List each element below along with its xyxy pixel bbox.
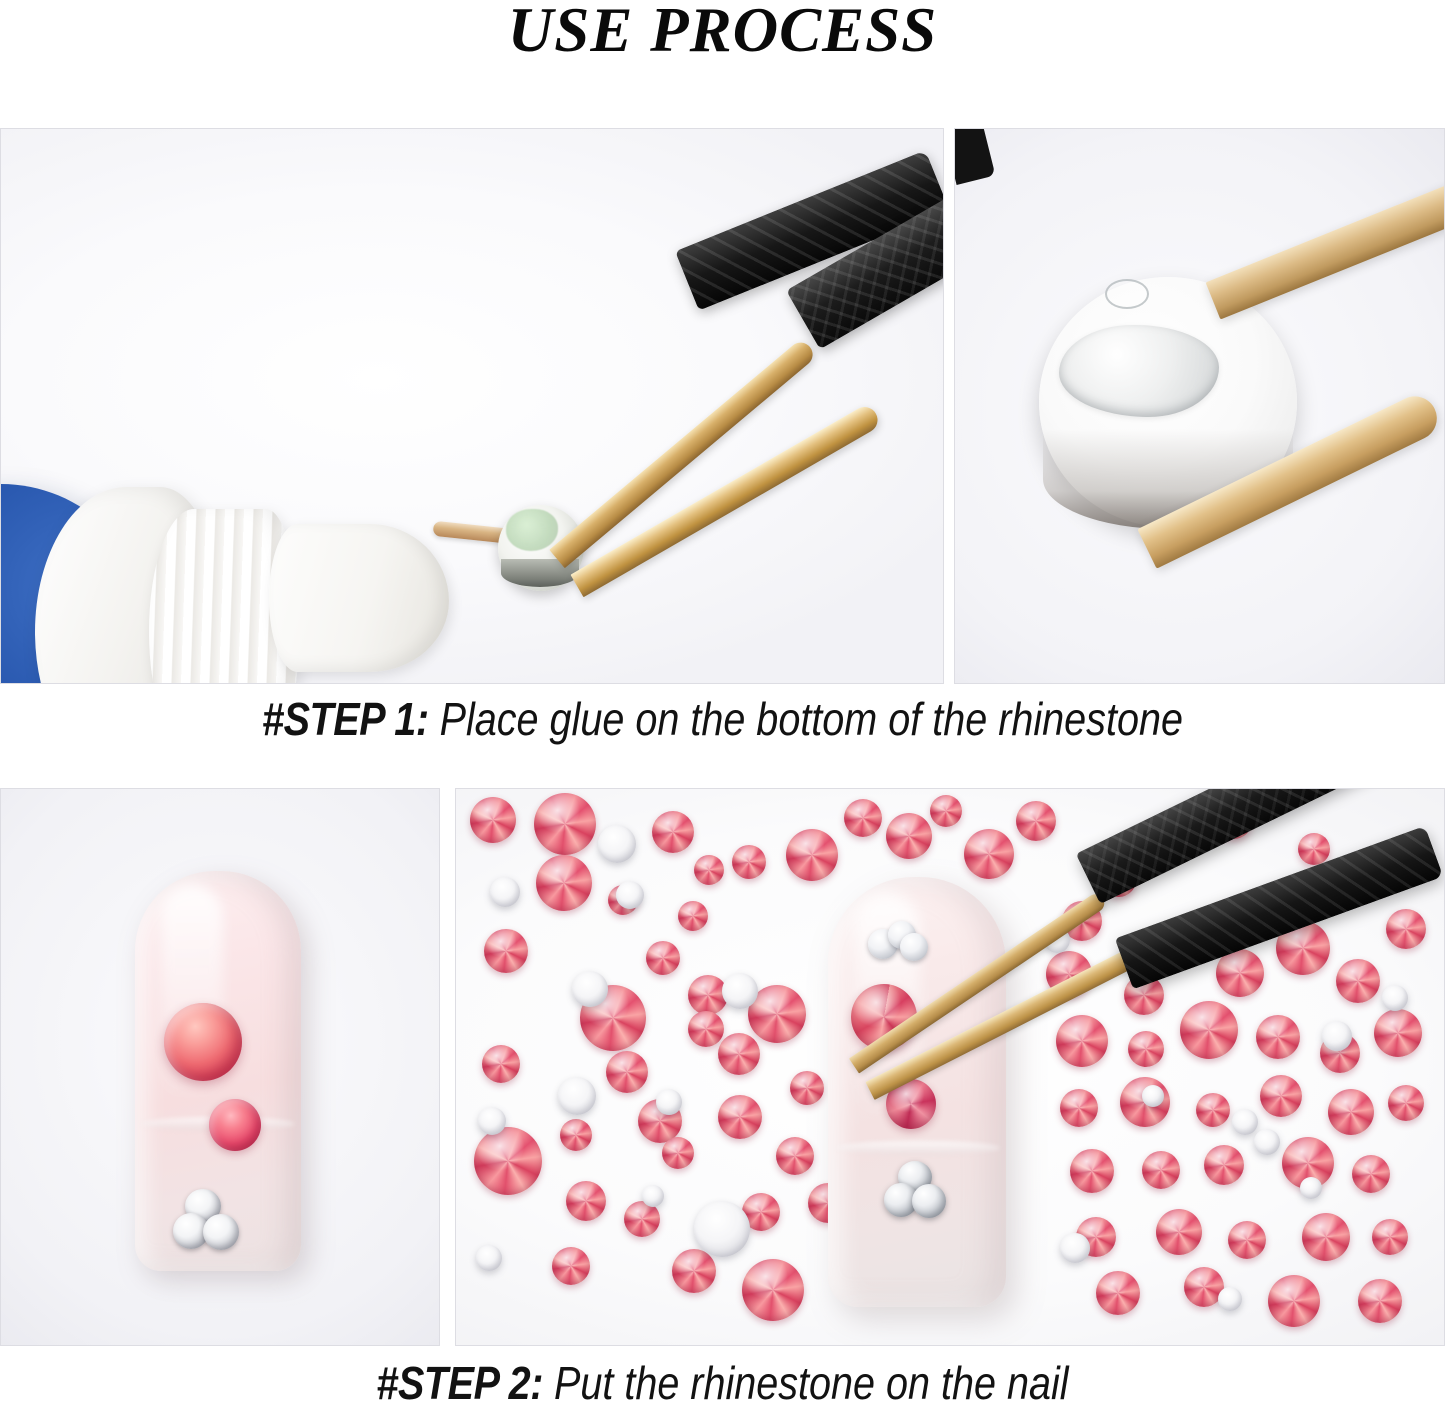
rhinestone-flat-back bbox=[1060, 1233, 1090, 1263]
rhinestone-face-up bbox=[1096, 1271, 1140, 1315]
image-rhinestone-closeup bbox=[954, 128, 1445, 684]
rhinestone-face-up bbox=[652, 811, 694, 853]
rhinestone-face-up bbox=[776, 1137, 814, 1175]
rhinestone-face-up bbox=[732, 845, 766, 879]
clear-crystal bbox=[900, 933, 928, 961]
rhinestone-flat-back bbox=[558, 1077, 596, 1115]
rhinestone-flat-back bbox=[1232, 1109, 1258, 1135]
rhinestone-face-up bbox=[552, 1247, 590, 1285]
rhinestone-flat-back bbox=[1300, 1177, 1322, 1199]
rhinestone-face-up bbox=[688, 1011, 724, 1047]
rhinestone-face-up bbox=[534, 793, 596, 855]
rhinestone-silver-cluster bbox=[884, 1161, 946, 1219]
rhinestone-face-up bbox=[1142, 1151, 1180, 1189]
rhinestone-face-up bbox=[1372, 1219, 1408, 1255]
page-title: USE PROCESS bbox=[0, 0, 1445, 64]
rhinestone-face-up bbox=[474, 1127, 542, 1195]
rhinestone-flat-back bbox=[572, 971, 608, 1007]
rhinestone-flat-back bbox=[722, 973, 758, 1009]
rhinestone-flat-back bbox=[1218, 1287, 1242, 1311]
rhinestone-face-up bbox=[886, 813, 932, 859]
rhinestone-face-up bbox=[672, 1249, 716, 1293]
rhinestone-face-up bbox=[560, 1119, 592, 1151]
rhinestone-flat-back bbox=[1382, 985, 1408, 1011]
rhinestone-face-up bbox=[484, 929, 528, 973]
rhinestone-face-up bbox=[566, 1181, 606, 1221]
rhinestone-face-up bbox=[786, 829, 838, 881]
rhinestone-face-up bbox=[964, 829, 1014, 879]
rhinestone-flat-back bbox=[478, 1107, 506, 1135]
rhinestone-face-up bbox=[1016, 801, 1056, 841]
rhinestone-face-up bbox=[482, 1045, 520, 1083]
rhinestone-face-up bbox=[646, 941, 680, 975]
step-1-label: #STEP 1: bbox=[262, 693, 429, 745]
rhinestone-face-up bbox=[742, 1259, 804, 1321]
silver-crystal bbox=[912, 1184, 946, 1218]
step-2-caption: #STEP 2: Put the rhinestone on the nail bbox=[101, 1356, 1344, 1410]
glue-bottle-tip bbox=[269, 524, 449, 672]
rhinestone-face-up bbox=[536, 855, 592, 911]
rhinestone-face-up bbox=[1070, 1149, 1114, 1193]
rhinestone-face-up bbox=[1358, 1279, 1402, 1323]
step-2-label: #STEP 2: bbox=[376, 1357, 543, 1409]
rhinestone-face-up bbox=[1256, 1015, 1300, 1059]
rhinestone-face-up bbox=[1260, 1075, 1302, 1117]
rhinestone-pink-small bbox=[209, 1099, 261, 1151]
rhinestone-face-up bbox=[1060, 1089, 1098, 1127]
rhinestone-pink-large bbox=[164, 1003, 242, 1081]
rhinestone-face-up bbox=[1128, 1031, 1164, 1067]
rhinestone-flat-back bbox=[616, 881, 644, 909]
image-applying-rhinestone bbox=[455, 788, 1445, 1346]
rhinestone-clear-cluster-top bbox=[868, 921, 930, 965]
rhinestone-face-up bbox=[718, 1095, 762, 1139]
step-1-caption: #STEP 1: Place glue on the bottom of the… bbox=[101, 692, 1344, 746]
rhinestone-face-up bbox=[606, 1051, 648, 1093]
rhinestone-flat-back bbox=[1254, 1129, 1280, 1155]
rhinestone-face-up bbox=[678, 901, 708, 931]
rhinestone-face-up bbox=[1196, 1093, 1230, 1127]
step-1-image-row bbox=[0, 128, 1445, 684]
rhinestone-face-up bbox=[1204, 1145, 1244, 1185]
image-glue-on-rhinestone bbox=[0, 128, 944, 684]
step-2-text: Put the rhinestone on the nail bbox=[543, 1357, 1069, 1409]
rhinestone-flat-back bbox=[642, 1185, 664, 1207]
rhinestone-face-up bbox=[1056, 1015, 1108, 1067]
image-finished-nail bbox=[0, 788, 440, 1346]
rhinestone-face-up bbox=[1336, 959, 1380, 1003]
rhinestone-flat-back bbox=[1142, 1085, 1164, 1107]
rhinestone-flat-back bbox=[656, 1089, 682, 1115]
step-2-image-row bbox=[0, 788, 1445, 1346]
glue-bubble bbox=[1105, 279, 1149, 309]
rhinestone-flat-back bbox=[694, 1201, 750, 1257]
step-1-text: Place glue on the bottom of the rhinesto… bbox=[429, 693, 1183, 745]
glue-blob bbox=[1059, 325, 1219, 417]
rhinestone-flat-back bbox=[490, 877, 520, 907]
rhinestone-face-up bbox=[718, 1033, 760, 1075]
rhinestone-face-up bbox=[662, 1137, 694, 1169]
clear-crystal bbox=[203, 1214, 239, 1250]
rhinestone-face-up bbox=[790, 1071, 824, 1105]
rhinestone-face-up bbox=[1386, 909, 1426, 949]
rhinestone-clear-cluster bbox=[173, 1189, 239, 1251]
rhinestone-face-up bbox=[1328, 1089, 1374, 1135]
rhinestone-flat-back bbox=[476, 1245, 502, 1271]
rhinestone-face-up bbox=[930, 795, 962, 827]
rhinestone-face-up bbox=[844, 799, 882, 837]
rhinestone-face-up bbox=[1228, 1221, 1266, 1259]
rhinestone-face-up bbox=[1388, 1085, 1424, 1121]
nail-smile-line bbox=[836, 1141, 1000, 1155]
rhinestone-face-up bbox=[1302, 1213, 1350, 1261]
rhinestone-face-up bbox=[1180, 1001, 1238, 1059]
rhinestone-face-up bbox=[1268, 1275, 1320, 1327]
rhinestone-face-up bbox=[470, 797, 516, 843]
rhinestone-face-up bbox=[1156, 1209, 1202, 1255]
rhinestone-face-up bbox=[694, 855, 724, 885]
rhinestone-flat-back bbox=[1322, 1021, 1352, 1051]
rhinestone-face-up bbox=[1352, 1155, 1390, 1193]
rhinestone-face-up bbox=[1298, 833, 1330, 865]
rhinestone-flat-back bbox=[598, 825, 636, 863]
rhinestone-face-up bbox=[1374, 1009, 1422, 1057]
